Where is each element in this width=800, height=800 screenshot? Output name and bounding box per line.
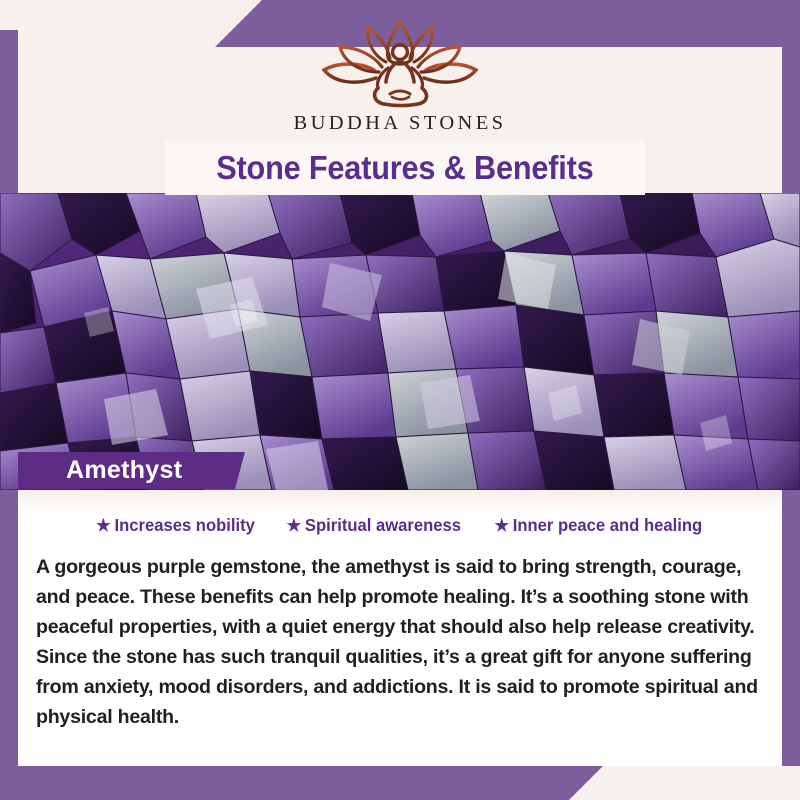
- benefit-item-2: ★ Spiritual awareness: [287, 515, 461, 536]
- title-band: Stone Features & Benefits: [165, 141, 645, 195]
- benefit-label: Inner peace and healing: [513, 515, 702, 536]
- product-infographic: BUDDHA STONES Stone Features & Benefits: [0, 0, 800, 800]
- stone-name-banner: Amethyst: [18, 452, 245, 489]
- crystal-cluster-illustration: [0, 193, 800, 490]
- benefit-label: Spiritual awareness: [305, 515, 461, 536]
- star-icon: ★: [96, 517, 110, 534]
- frame-bottom-bar: [0, 764, 605, 800]
- star-icon: ★: [495, 517, 509, 534]
- benefit-item-3: ★ Inner peace and healing: [495, 515, 703, 536]
- brand-logo-block: BUDDHA STONES: [0, 14, 800, 135]
- amethyst-hero-image: [0, 193, 800, 490]
- star-icon: ★: [287, 517, 301, 534]
- page-title: Stone Features & Benefits: [216, 149, 593, 187]
- description-text: A gorgeous purple gemstone, the amethyst…: [36, 552, 764, 732]
- benefit-label: Increases nobility: [115, 515, 255, 536]
- stone-name-label: Amethyst: [18, 456, 182, 485]
- lotus-meditation-icon: [316, 14, 484, 110]
- benefit-item-1: ★ Increases nobility: [96, 515, 255, 536]
- brand-wordmark: BUDDHA STONES: [294, 112, 507, 135]
- description-panel: ★ Increases nobility ★ Spiritual awarene…: [18, 490, 782, 766]
- panel-fade: [18, 490, 782, 516]
- benefits-list: ★ Increases nobility ★ Spiritual awarene…: [18, 515, 782, 536]
